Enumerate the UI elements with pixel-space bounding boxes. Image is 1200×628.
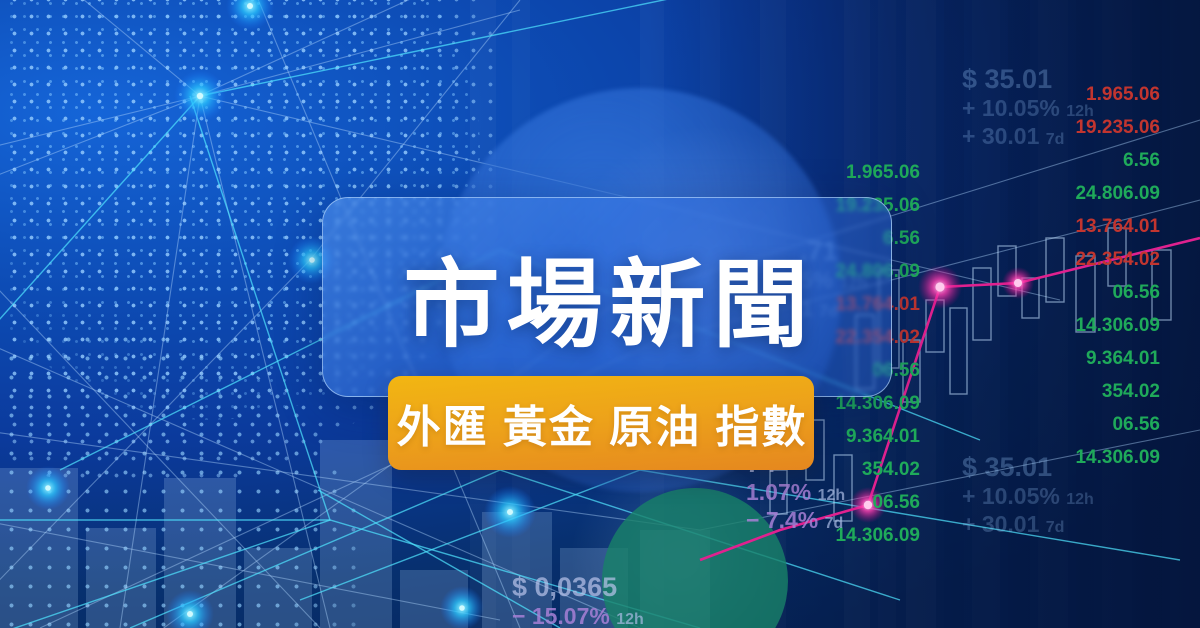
- quote-change-7d: − 7.4% 7d: [746, 507, 845, 535]
- quote-change-12h: + 10.05% 12h: [962, 483, 1094, 511]
- quote-change-7d-value: − 7.4%: [746, 507, 818, 533]
- quote-change-7d: + 30.01 7d: [962, 511, 1094, 539]
- quote-change-12h-value: 1.07%: [746, 479, 811, 505]
- quote-top-right: $ 35.01 + 10.05% 12h + 30.01 7d: [962, 64, 1094, 151]
- ticker-value: 13.764.01: [960, 210, 1160, 243]
- quote-change-12h-value: + 10.05%: [962, 483, 1060, 509]
- quote-change-12h-value: − 15.07%: [512, 603, 610, 628]
- ticker-value: 1.965.06: [760, 156, 920, 189]
- quote-bottom-center: $ 0,0365 − 15.07% 12h − 42.4% 7d: [512, 572, 644, 628]
- quote-change-12h: + 10.05% 12h: [962, 95, 1094, 123]
- quote-period-7d: 7d: [1046, 131, 1065, 148]
- ticker-value: 06.56: [960, 408, 1160, 441]
- category-badge-label: 外匯 黃金 原油 指數: [395, 391, 808, 455]
- quote-change-7d: + 30.01 7d: [962, 123, 1094, 151]
- ticker-value: 06.56: [960, 276, 1160, 309]
- quote-price: $ 35.01: [962, 64, 1094, 95]
- quote-period-7d: 7d: [1046, 519, 1065, 536]
- quote-change-12h-value: + 10.05%: [962, 95, 1060, 121]
- ticker-value: 354.02: [960, 375, 1160, 408]
- quote-price: $ 0,0365: [512, 572, 644, 603]
- quote-change-7d-value: + 30.01: [962, 123, 1039, 149]
- quote-price: $ 35.01: [962, 452, 1094, 483]
- quote-change-12h: − 15.07% 12h: [512, 603, 644, 628]
- page-title: 市場新聞: [322, 197, 890, 395]
- quote-period-12h: 12h: [1066, 491, 1094, 508]
- quote-change-12h: 1.07% 12h: [746, 479, 845, 507]
- ticker-value: 9.364.01: [960, 342, 1160, 375]
- banner-canvas: 1.965.0619.235.066.5624.806.0913.764.012…: [0, 0, 1200, 628]
- ticker-value: 24.806.09: [960, 177, 1160, 210]
- category-badge[interactable]: 外匯 黃金 原油 指數: [388, 376, 814, 470]
- ticker-value: 14.306.09: [960, 309, 1160, 342]
- quote-bottom-right: $ 35.01 + 10.05% 12h + 30.01 7d: [962, 452, 1094, 539]
- quote-period-7d: 7d: [825, 515, 844, 532]
- quote-change-7d-value: + 30.01: [962, 511, 1039, 537]
- ticker-value: 22.354.02: [960, 243, 1160, 276]
- quote-period-12h: 12h: [616, 611, 644, 628]
- quote-period-12h: 12h: [818, 487, 846, 504]
- quote-period-12h: 12h: [1066, 103, 1094, 120]
